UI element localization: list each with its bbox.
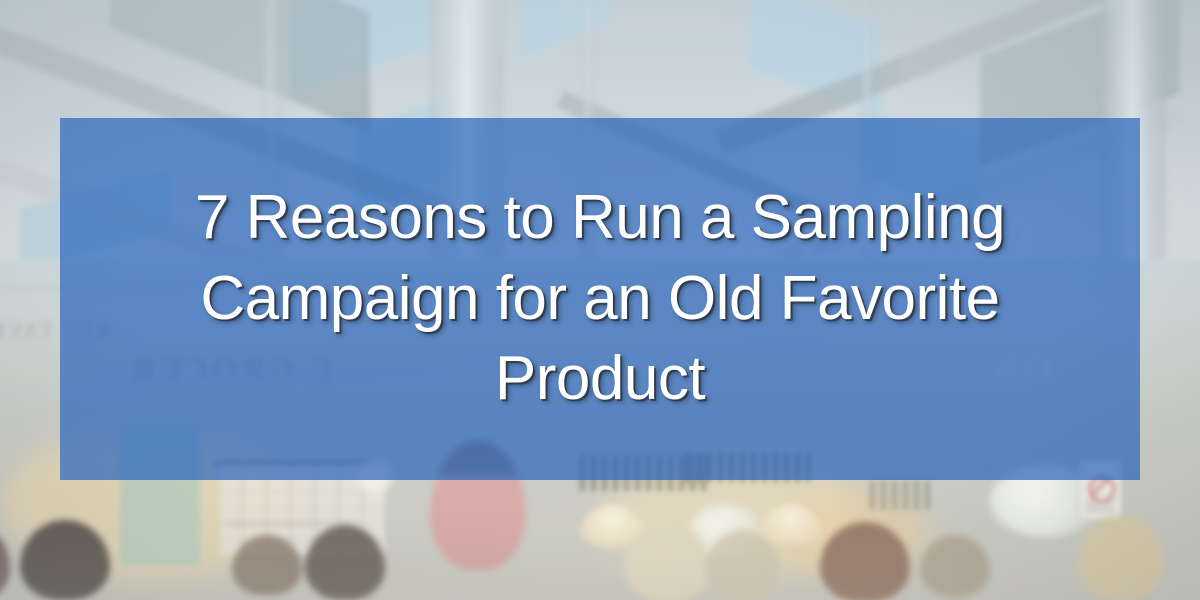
title-line-1: 7 Reasons to Run a Sampling: [60, 178, 1140, 259]
title-line-3: Product: [60, 339, 1140, 420]
page-title: 7 Reasons to Run a Sampling Campaign for…: [60, 178, 1140, 420]
title-line-2: Campaign for an Old Favorite: [60, 259, 1140, 340]
title-overlay-panel: 7 Reasons to Run a Sampling Campaign for…: [60, 118, 1140, 480]
featured-image-banner: KET TAVERN GROCER E GROCER ON 7 Reasons …: [0, 0, 1200, 600]
